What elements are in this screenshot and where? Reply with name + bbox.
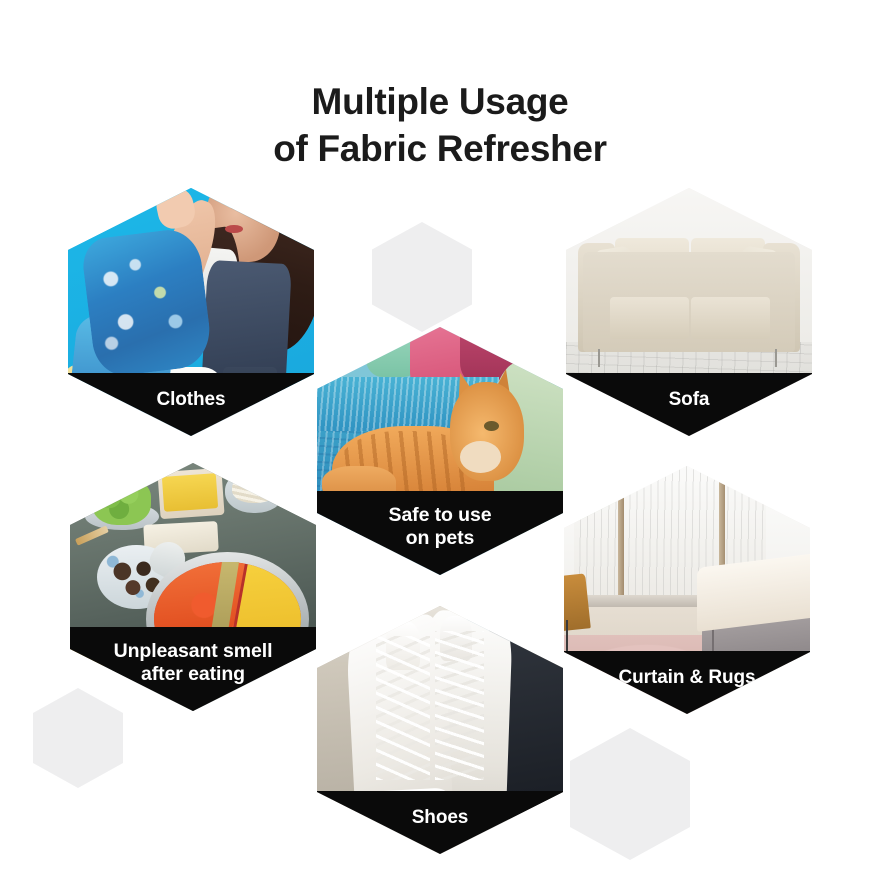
hex-label-pets-line-2: on pets <box>406 527 475 549</box>
hex-label-smell-line-2: after eating <box>141 663 245 685</box>
hex-caption-clothes: Clothes <box>68 373 314 436</box>
hex-card-sofa[interactable]: Sofa <box>566 188 812 436</box>
hex-card-clothes[interactable]: Clothes <box>68 188 314 436</box>
hex-label-shoes: Shoes <box>412 807 469 829</box>
hex-label-smell: Unpleasant smell after eating <box>114 640 273 685</box>
hex-caption-curtain: Curtain & Rugs <box>564 651 810 714</box>
decorative-hexagon-bottom-right <box>570 728 690 860</box>
hex-card-smell[interactable]: Unpleasant smell after eating <box>70 463 316 711</box>
hex-caption-shoes: Shoes <box>317 791 563 854</box>
hex-label-pets-line-1: Safe to use <box>389 504 492 526</box>
hex-card-curtain[interactable]: Curtain & Rugs <box>564 466 810 714</box>
hex-caption-pets: Safe to use on pets <box>317 491 563 575</box>
infographic-canvas: Multiple Usage of Fabric Refresher Cloth… <box>0 0 880 880</box>
hex-label-sofa: Sofa <box>669 389 710 411</box>
hex-card-shoes[interactable]: Shoes <box>317 606 563 854</box>
hex-card-pets[interactable]: Safe to use on pets <box>317 327 563 575</box>
hex-caption-smell: Unpleasant smell after eating <box>70 627 316 711</box>
title-line-1: Multiple Usage <box>312 81 569 122</box>
title-line-2: of Fabric Refresher <box>0 125 880 172</box>
hex-label-smell-line-1: Unpleasant smell <box>114 640 273 662</box>
decorative-hexagon-top-center <box>372 222 472 332</box>
decorative-hexagon-bottom-left <box>33 688 123 788</box>
hex-label-curtain: Curtain & Rugs <box>619 667 756 689</box>
hex-caption-sofa: Sofa <box>566 373 812 436</box>
page-title: Multiple Usage of Fabric Refresher <box>0 78 880 173</box>
hex-label-clothes: Clothes <box>157 389 226 411</box>
hex-label-pets: Safe to use on pets <box>389 504 492 549</box>
